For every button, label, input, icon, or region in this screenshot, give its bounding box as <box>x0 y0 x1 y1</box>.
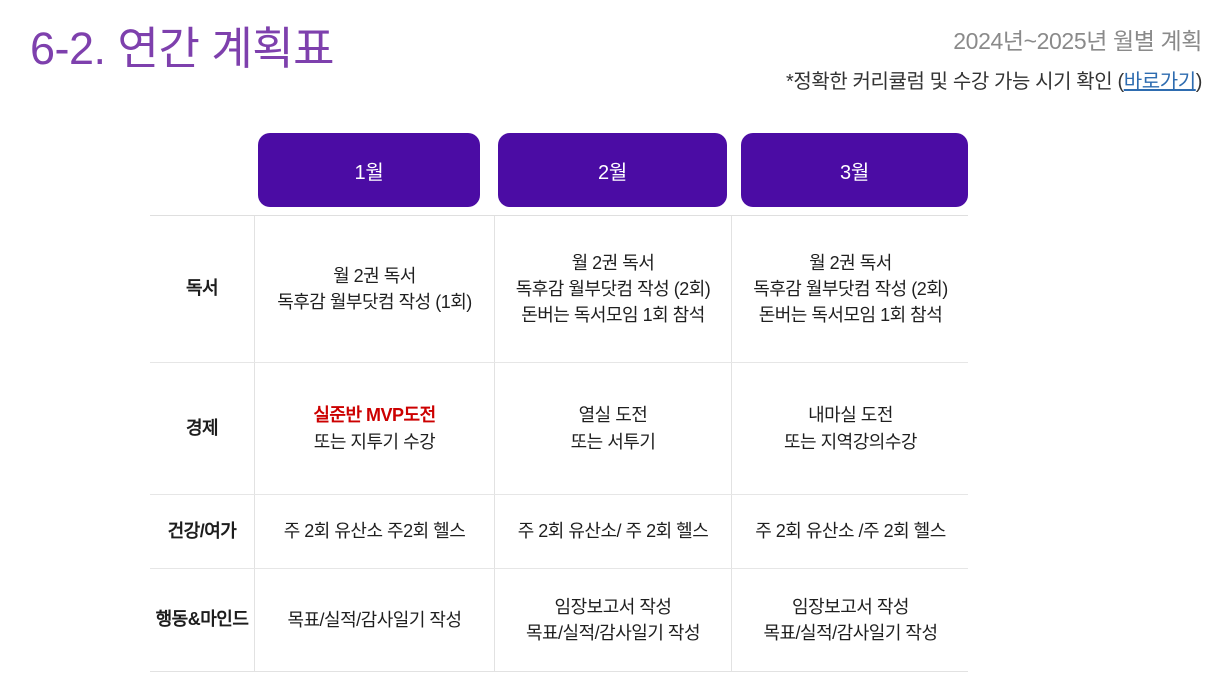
cell-health-month1: 주 2회 유산소 주2회 헬스 <box>255 495 495 568</box>
cell-line: 목표/실적/감사일기 작성 <box>287 607 461 633</box>
cell-economy-month2: 열실 도전또는 서투기 <box>495 363 732 494</box>
annual-plan-table: 1월 2월 3월 독서 월 2권 독서독후감 월부닷컴 작성 (1회) 월 2권… <box>150 133 968 672</box>
cell-line: 목표/실적/감사일기 작성 <box>763 620 937 646</box>
cell-line: 돈버는 독서모임 1회 참석 <box>521 302 705 328</box>
cell-line: 주 2회 유산소/ 주 2회 헬스 <box>518 518 709 544</box>
row-label-line: 행동 <box>156 608 188 631</box>
cell-line: 내마실 도전 <box>808 402 893 428</box>
cell-reading-month2: 월 2권 독서독후감 월부닷컴 작성 (2회)돈버는 독서모임 1회 참석 <box>495 216 732 362</box>
cell-economy-month1: 실준반 MVP도전또는 지투기 수강 <box>255 363 495 494</box>
note-paren-close: ) <box>1196 71 1202 93</box>
plan-grid: 독서 월 2권 독서독후감 월부닷컴 작성 (1회) 월 2권 독서독후감 월부… <box>150 215 968 672</box>
month-header-3[interactable]: 3월 <box>741 133 968 207</box>
month-header-2[interactable]: 2월 <box>498 133 727 207</box>
go-to-link[interactable]: 바로가기 <box>1124 71 1196 93</box>
cell-action-month2: 임장보고서 작성목표/실적/감사일기 작성 <box>495 569 732 671</box>
cell-line: 월 2권 독서 <box>333 263 416 289</box>
table-row: 행동&마인드 목표/실적/감사일기 작성 임장보고서 작성목표/실적/감사일기 … <box>150 569 968 671</box>
cell-line: 또는 서투기 <box>571 429 656 455</box>
row-label-action: 행동&마인드 <box>150 569 255 671</box>
cell-line: 목표/실적/감사일기 작성 <box>526 620 700 646</box>
page-title: 6-2. 연간 계획표 <box>30 12 334 77</box>
cell-health-month2: 주 2회 유산소/ 주 2회 헬스 <box>495 495 732 568</box>
cell-line: 월 2권 독서 <box>809 250 892 276</box>
subtitle: 2024년~2025년 월별 계획 <box>786 22 1202 56</box>
month-header-row: 1월 2월 3월 <box>150 133 968 207</box>
row-label-line: 마인드 <box>200 608 248 631</box>
cell-action-month1: 목표/실적/감사일기 작성 <box>255 569 495 671</box>
month-header-1[interactable]: 1월 <box>258 133 480 207</box>
cell-line: 임장보고서 작성 <box>792 594 909 620</box>
note-text: *정확한 커리큘럼 및 수강 가능 시기 확인 <box>786 71 1117 93</box>
cell-action-month3: 임장보고서 작성목표/실적/감사일기 작성 <box>732 569 969 671</box>
cell-line: 임장보고서 작성 <box>555 594 672 620</box>
cell-line: 독후감 월부닷컴 작성 (2회) <box>753 276 948 302</box>
cell-line: 독후감 월부닷컴 작성 (1회) <box>277 289 472 315</box>
cell-line: 돈버는 독서모임 1회 참석 <box>759 302 943 328</box>
curriculum-note: *정확한 커리큘럼 및 수강 가능 시기 확인 (바로가기) <box>786 65 1202 94</box>
cell-line: 또는 지역강의수강 <box>784 429 917 455</box>
cell-economy-month3: 내마실 도전또는 지역강의수강 <box>732 363 969 494</box>
row-label-line: & <box>188 608 201 631</box>
row-label-reading: 독서 <box>150 216 255 362</box>
cell-health-month3: 주 2회 유산소 /주 2회 헬스 <box>732 495 969 568</box>
cell-reading-month3: 월 2권 독서독후감 월부닷컴 작성 (2회)돈버는 독서모임 1회 참석 <box>732 216 969 362</box>
cell-line: 열실 도전 <box>579 402 648 428</box>
row-label-health: 건강/여가 <box>150 495 255 568</box>
row-label-economy: 경제 <box>150 363 255 494</box>
row-label-line: 독서 <box>186 277 218 300</box>
row-label-line: 건강/여가 <box>168 520 237 543</box>
row-label-line: 경제 <box>186 417 218 440</box>
slide-header: 6-2. 연간 계획표 2024년~2025년 월별 계획 *정확한 커리큘럼 … <box>0 0 1216 118</box>
cell-line: 독후감 월부닷컴 작성 (2회) <box>516 276 711 302</box>
table-row: 경제 실준반 MVP도전또는 지투기 수강 열실 도전또는 서투기 내마실 도전… <box>150 363 968 495</box>
month-header-spacer <box>150 133 254 207</box>
cell-line: 월 2권 독서 <box>572 250 655 276</box>
cell-line-highlight: 실준반 MVP도전 <box>313 402 435 428</box>
cell-line: 주 2회 유산소 주2회 헬스 <box>284 518 466 544</box>
cell-reading-month1: 월 2권 독서독후감 월부닷컴 작성 (1회) <box>255 216 495 362</box>
cell-line: 또는 지투기 수강 <box>314 429 435 455</box>
table-row: 독서 월 2권 독서독후감 월부닷컴 작성 (1회) 월 2권 독서독후감 월부… <box>150 216 968 363</box>
cell-line: 주 2회 유산소 /주 2회 헬스 <box>755 518 946 544</box>
table-row: 건강/여가 주 2회 유산소 주2회 헬스 주 2회 유산소/ 주 2회 헬스 … <box>150 495 968 569</box>
header-right-block: 2024년~2025년 월별 계획 *정확한 커리큘럼 및 수강 가능 시기 확… <box>786 22 1202 94</box>
